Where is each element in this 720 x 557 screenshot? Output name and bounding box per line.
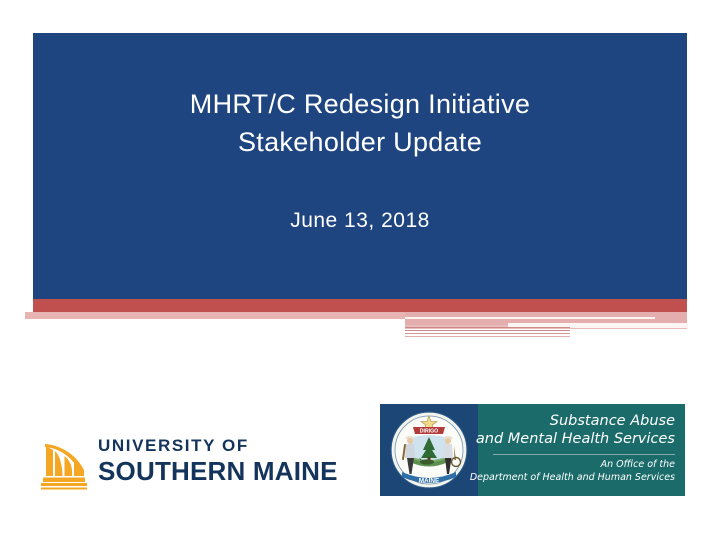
usm-wordmark-line-1: UNIVERSITY OF xyxy=(98,436,320,456)
decor-white-stripe-1 xyxy=(405,317,655,319)
decor-pink-bar-2 xyxy=(405,325,687,329)
maine-state-seal-icon: DIRIGO MAINE xyxy=(380,404,478,496)
university-of-southern-maine-logo: UNIVERSITY OF SOUTHERN MAINE xyxy=(40,436,320,498)
title-panel: MHRT/C Redesign Initiative Stakeholder U… xyxy=(33,33,687,299)
decor-white-stripe-2 xyxy=(508,323,688,328)
seal-motto: DIRIGO xyxy=(420,428,438,434)
samhs-seal-panel: DIRIGO MAINE xyxy=(380,404,478,496)
usm-wordmark-line-2: SOUTHERN MAINE xyxy=(98,456,320,486)
samhs-title: Substance Abuse and Mental Health Servic… xyxy=(476,412,675,448)
slide-title-line-1: MHRT/C Redesign Initiative xyxy=(33,85,687,123)
samhs-text-panel: Substance Abuse and Mental Health Servic… xyxy=(478,404,685,496)
usm-wordmark: UNIVERSITY OF SOUTHERN MAINE xyxy=(98,436,320,486)
decor-thin-line-1 xyxy=(405,327,570,328)
usm-sail-icon xyxy=(40,438,92,494)
presentation-slide: MHRT/C Redesign Initiative Stakeholder U… xyxy=(0,0,720,557)
seal-state-name: MAINE xyxy=(419,478,440,485)
title-panel-content: MHRT/C Redesign Initiative Stakeholder U… xyxy=(33,85,687,233)
samhs-divider xyxy=(493,454,675,455)
decor-pink-bar-left xyxy=(25,312,405,319)
samhs-logo: DIRIGO MAINE Substance Abuse and Mental … xyxy=(380,404,685,496)
decor-red-bar xyxy=(33,299,687,312)
samhs-title-line-2: and Mental Health Services xyxy=(476,430,675,448)
decor-thin-line-2 xyxy=(405,330,570,331)
samhs-sub-line-1: An Office of the xyxy=(470,459,675,472)
samhs-subtitle: An Office of the Department of Health an… xyxy=(470,459,675,484)
decor-pink-bar-right xyxy=(405,312,687,325)
decor-thin-line-3 xyxy=(405,333,570,334)
decor-thin-line-4 xyxy=(405,336,570,337)
slide-title-line-2: Stakeholder Update xyxy=(33,123,687,161)
samhs-sub-line-2: Department of Health and Human Services xyxy=(470,472,675,485)
slide-date: June 13, 2018 xyxy=(33,209,687,233)
samhs-title-line-1: Substance Abuse xyxy=(476,412,675,430)
